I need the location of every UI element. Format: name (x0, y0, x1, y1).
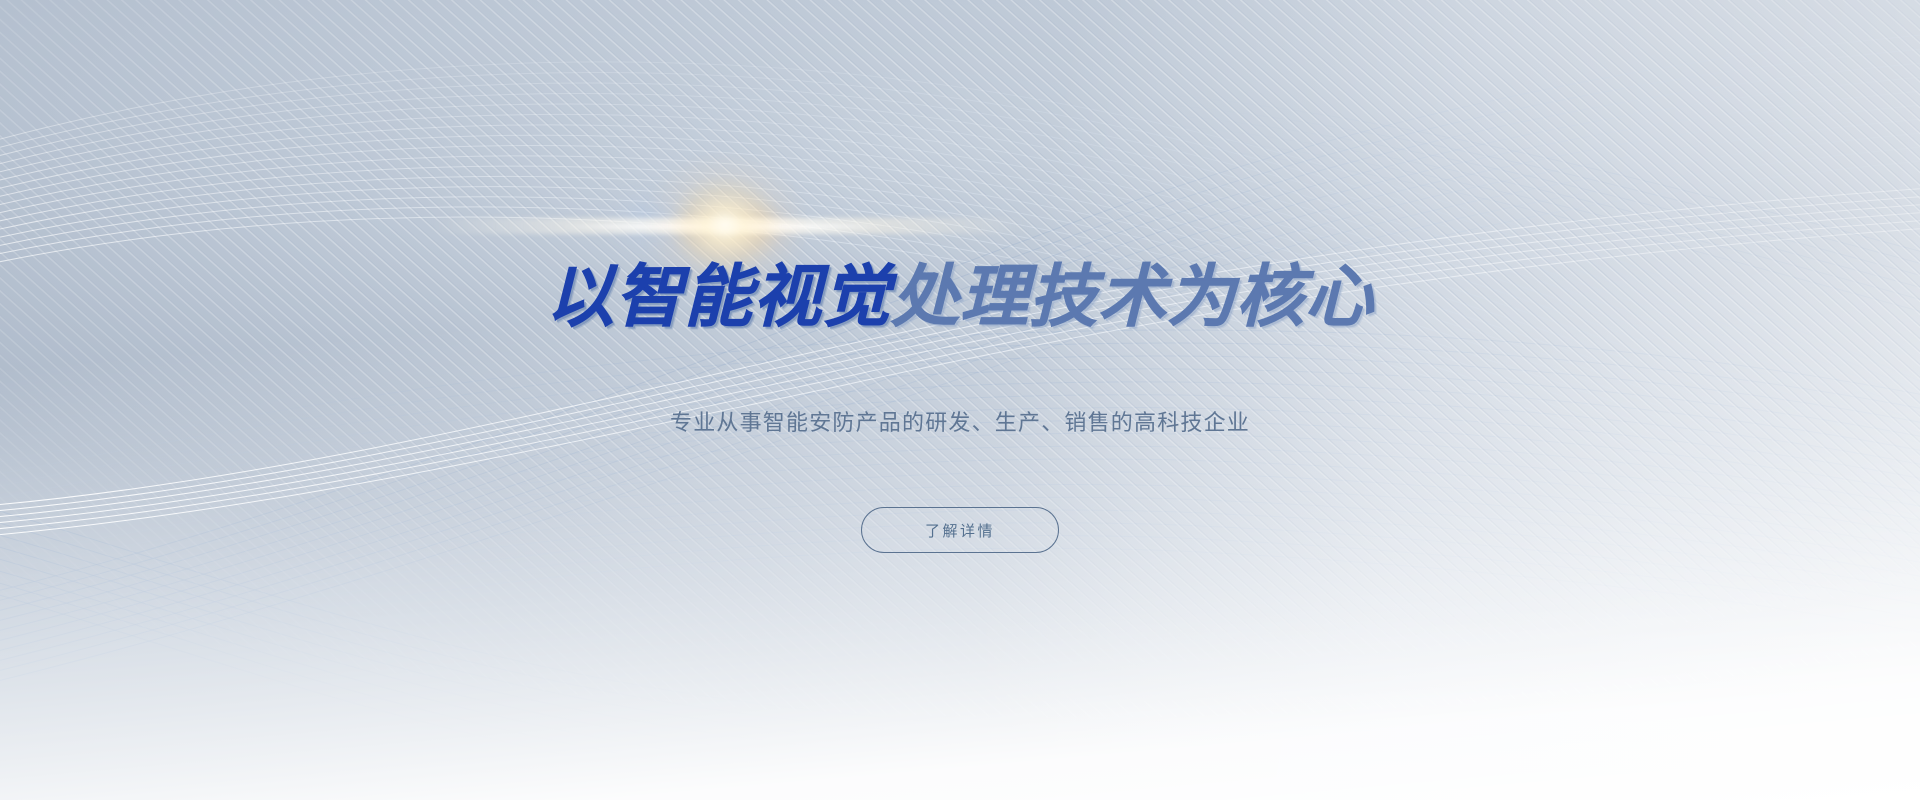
page-subtitle: 专业从事智能安防产品的研发、生产、销售的高科技企业 (670, 406, 1250, 440)
headline-rest: 处理技术为核心 (891, 258, 1374, 337)
diagonal-hatch-shadow (0, 0, 1920, 800)
hero-banner: 以智能视觉处理技术为核心 专业从事智能安防产品的研发、生产、销售的高科技企业 了… (0, 0, 1920, 800)
learn-more-button[interactable]: 了解详情 (861, 507, 1059, 553)
headline-emphasis: 以智能视觉 (546, 258, 891, 337)
page-title: 以智能视觉处理技术为核心 (546, 264, 1374, 332)
